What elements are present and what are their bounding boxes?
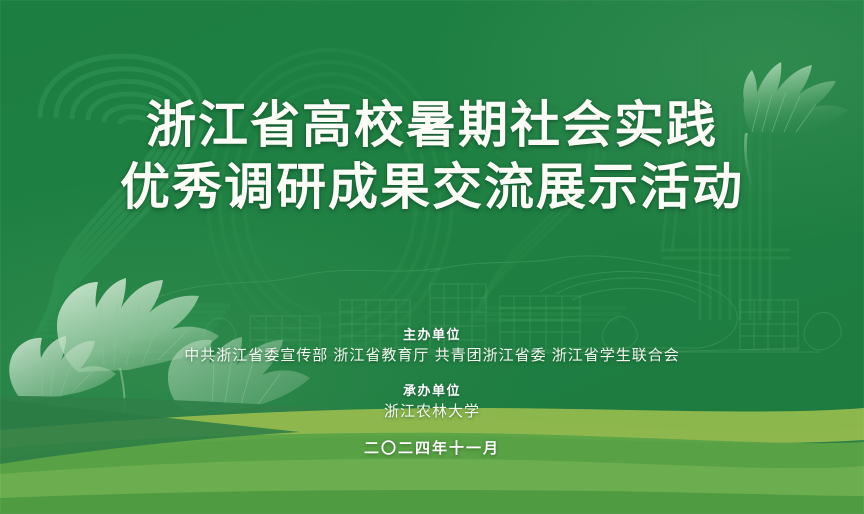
poster-canvas: 浙江省高校暑期社会实践 优秀调研成果交流展示活动 主办单位 中共浙江省委宣传部 …: [0, 0, 864, 514]
poster-edge: [0, 0, 864, 514]
